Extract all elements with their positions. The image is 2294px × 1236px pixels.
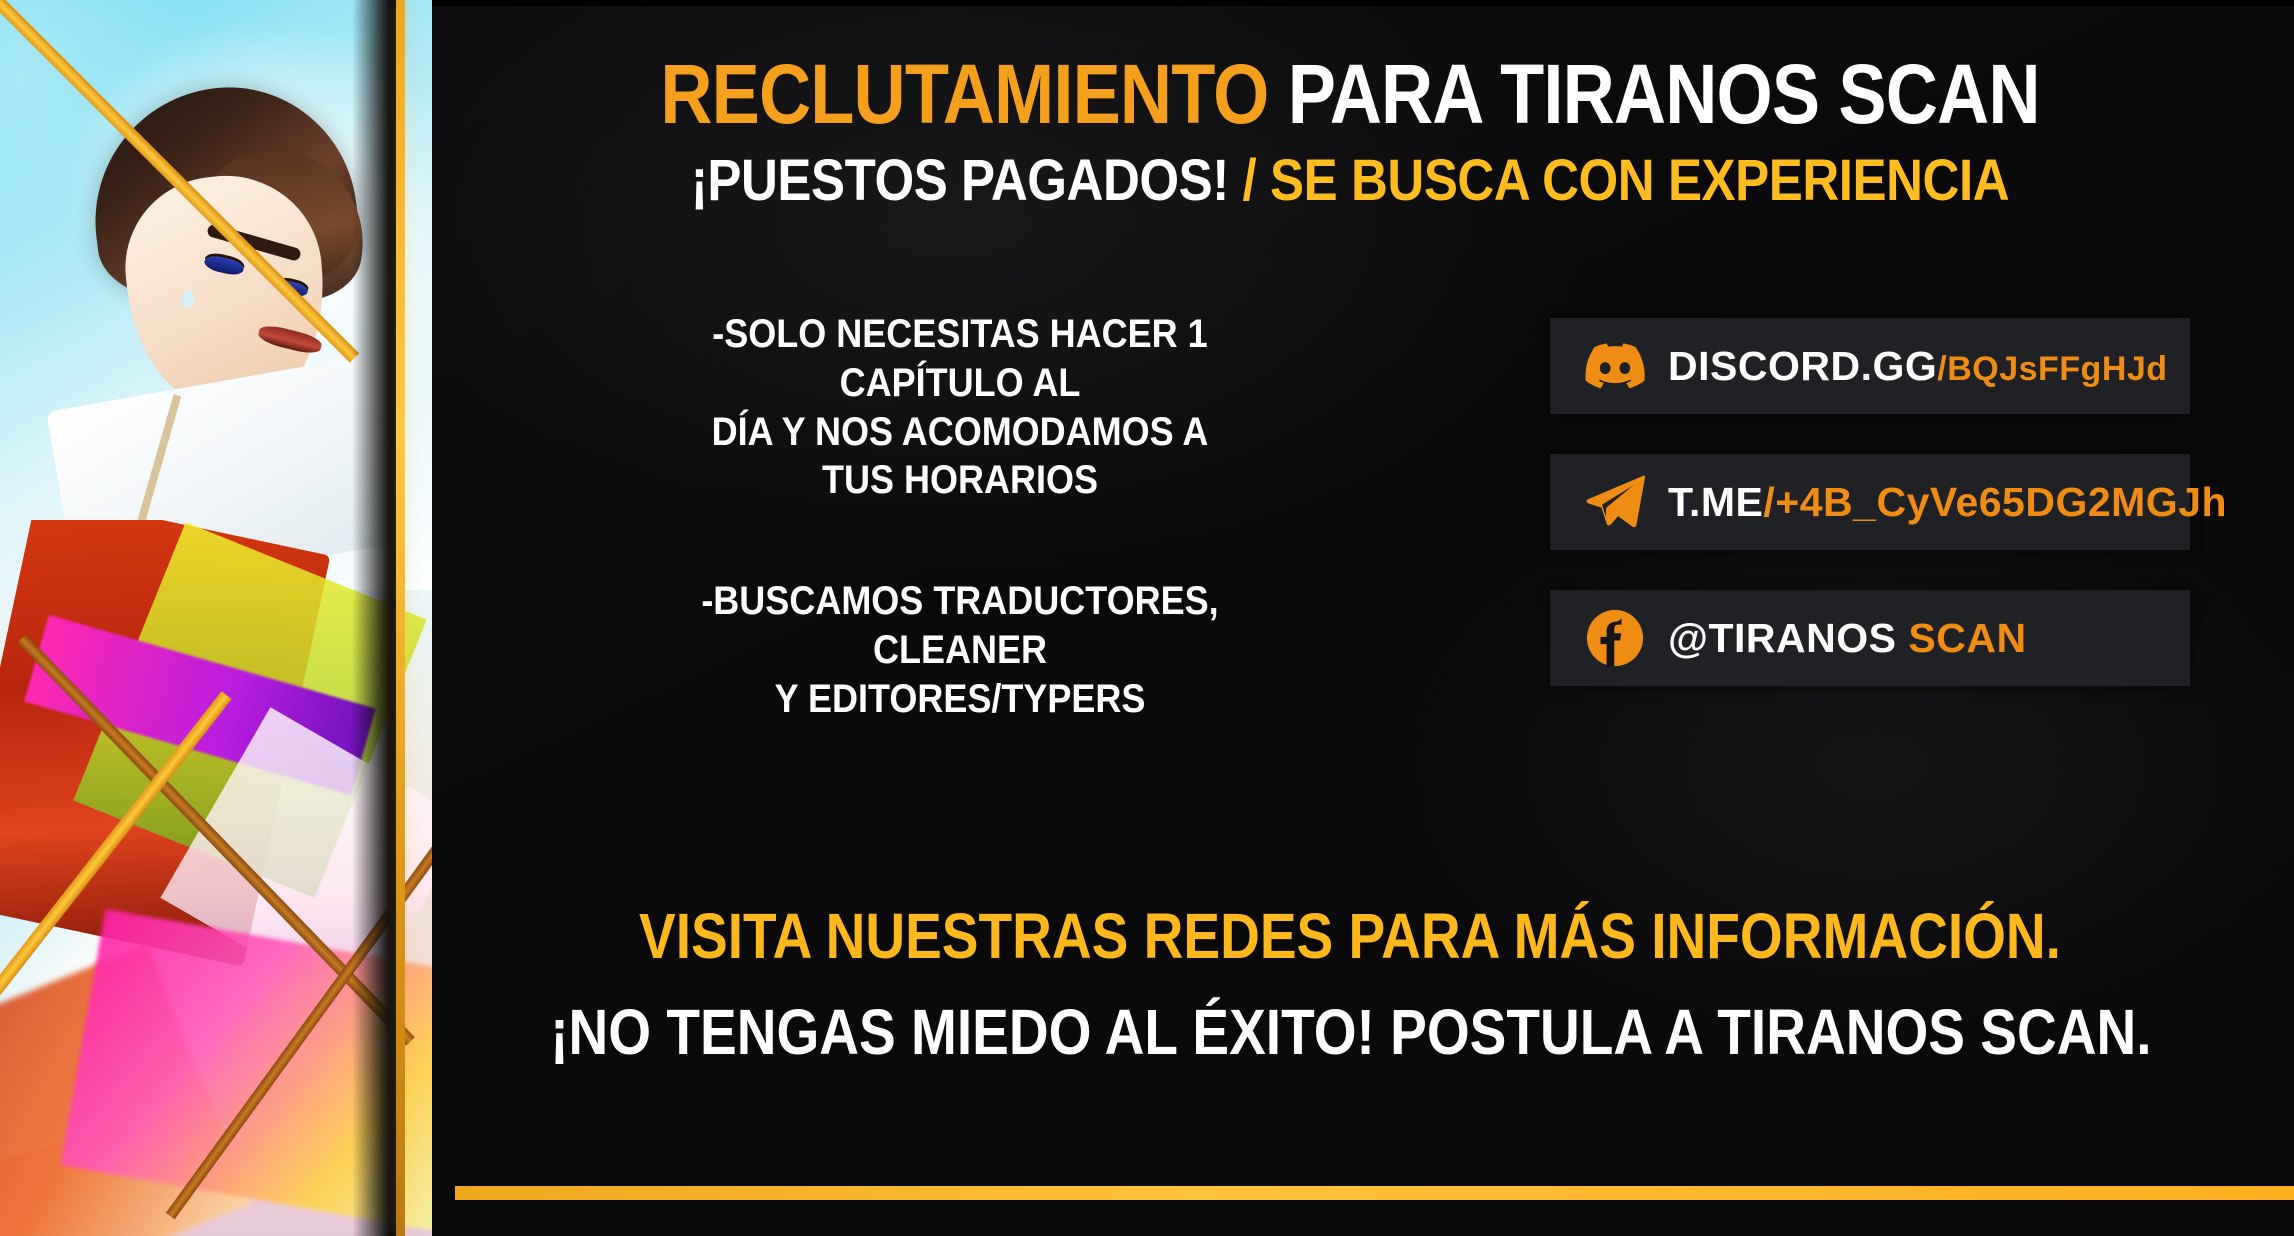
call-to-action: VISITA NUESTRAS REDES PARA MÁS INFORMACI… [420,900,2280,1069]
subtitle-white: ¡PUESTOS PAGADOS! [691,148,1229,213]
bullet-1-line-1: -SOLO NECESITAS HACER 1 CAPÍTULO AL [681,310,1239,408]
list-item: -BUSCAMOS TRADUCTORES, CLEANER Y EDITORE… [681,577,1239,723]
cta-line-white: ¡NO TENGAS MIEDO AL ÉXITO! POSTULA A TIR… [550,996,2150,1070]
bullet-2-line-1: -BUSCAMOS TRADUCTORES, CLEANER [681,577,1239,675]
discord-domain: DISCORD.GG [1668,343,1937,389]
contact-card-telegram[interactable]: T.ME/+4B_CyVe65DG2MGJh [1550,454,2190,550]
recruitment-banner: RECLUTAMIENTO PARA TIRANOS SCAN ¡PUESTOS… [0,0,2294,1236]
contact-links: DISCORD.GG/BQJsFFgHJd T.ME/+4B_CyVe65DG2… [1550,318,2190,726]
artwork-fade-edge [352,0,400,1236]
page-subtitle: ¡PUESTOS PAGADOS! / SE BUSCA CON EXPERIE… [532,152,2169,210]
bullet-1-line-2: DÍA Y NOS ACOMODAMOS A TUS HORARIOS [681,408,1239,506]
gold-vertical-separator [396,0,405,1236]
telegram-icon [1584,471,1646,533]
telegram-label: T.ME/+4B_CyVe65DG2MGJh [1668,479,2227,526]
top-edge [380,0,2294,6]
bullet-2-line-2: Y EDITORES/TYPERS [681,675,1239,724]
title-accent: RECLUTAMIENTO [660,47,1268,141]
list-item: -SOLO NECESITAS HACER 1 CAPÍTULO AL DÍA … [681,310,1239,505]
facebook-handle: @TIRANOS [1668,615,1896,661]
title-rest: PARA TIRANOS SCAN [1269,47,2040,141]
character-sweat-drop [182,290,194,307]
discord-label: DISCORD.GG/BQJsFFgHJd [1668,343,2168,390]
discord-icon [1584,335,1646,397]
contact-card-facebook[interactable]: @TIRANOS SCAN [1550,590,2190,686]
facebook-handle-accent: SCAN [1896,615,2026,661]
facebook-label: @TIRANOS SCAN [1668,615,2027,662]
telegram-invite-code: /+4B_CyVe65DG2MGJh [1763,479,2227,525]
gold-bottom-bar [455,1186,2294,1200]
cta-line-gold: VISITA NUESTRAS REDES PARA MÁS INFORMACI… [550,900,2150,974]
facebook-icon [1584,607,1646,669]
page-title: RECLUTAMIENTO PARA TIRANOS SCAN [550,52,2150,136]
discord-invite-code: /BQJsFFgHJd [1937,350,2167,388]
telegram-domain: T.ME [1668,479,1763,525]
subtitle-gold: / SE BUSCA CON EXPERIENCIA [1229,148,2009,213]
contact-card-discord[interactable]: DISCORD.GG/BQJsFFgHJd [1550,318,2190,414]
requirements-list: -SOLO NECESITAS HACER 1 CAPÍTULO AL DÍA … [650,300,1270,724]
